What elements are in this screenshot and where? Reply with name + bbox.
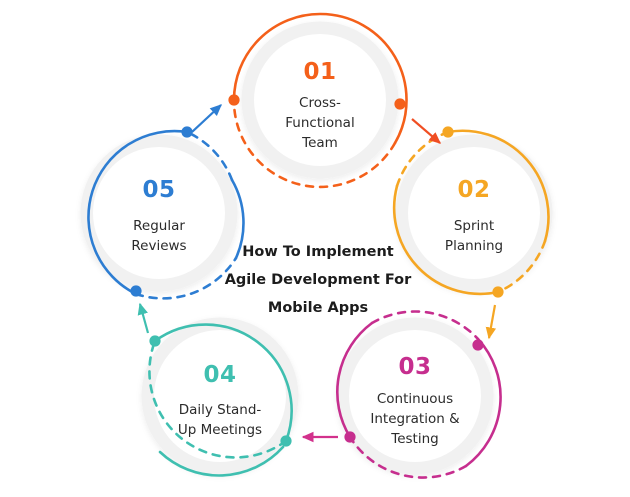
step-label-03-line-3: Testing: [390, 431, 438, 447]
node-dot-03-bottom-left: [344, 431, 355, 442]
arrow-02-to-03: [489, 305, 495, 338]
center-title-line-2: Agile Development For: [225, 272, 412, 288]
node-dot-05-top: [181, 126, 192, 137]
step-circle-04[interactable]: 04 Daily Stand- Up Meetings: [148, 324, 292, 475]
step-label-04-line-1: Daily Stand-: [179, 402, 262, 418]
step-label-03-line-1: Continuous: [377, 391, 453, 407]
node-dot-04-bottom-right: [280, 435, 291, 446]
center-title-line-3: Mobile Apps: [268, 300, 368, 316]
step-label-05-line-1: Regular: [133, 218, 185, 234]
step-circle-03[interactable]: 03 Continuous Integration & Testing: [337, 311, 500, 477]
step-circle-05[interactable]: 05 Regular Reviews: [87, 126, 243, 298]
node-dot-04-top-left: [149, 335, 160, 346]
step-number-05: 05: [142, 177, 175, 203]
arrow-05-to-01: [192, 105, 221, 132]
step-number-03: 03: [398, 354, 431, 380]
step-number-01: 01: [303, 59, 336, 85]
step-circle-01[interactable]: 01 Cross- Functional Team: [228, 14, 406, 187]
step-number-02: 02: [457, 177, 490, 203]
arrow-01-to-02: [412, 119, 440, 143]
process-cycle-diagram: 01 Cross- Functional Team 02 Sprint Plan…: [0, 0, 630, 497]
step-circle-02[interactable]: 02 Sprint Planning: [394, 126, 548, 297]
ring-inner-fill-02: [408, 147, 540, 279]
step-label-01-line-2: Functional: [285, 115, 354, 131]
step-label-05-line-2: Reviews: [131, 238, 186, 254]
arrow-04-to-05: [140, 304, 148, 333]
step-number-04: 04: [203, 362, 236, 388]
center-title: How To Implement Agile Development For M…: [225, 244, 412, 316]
node-dot-02-bottom: [492, 286, 503, 297]
node-dot-01-right: [394, 98, 405, 109]
step-label-04-line-2: Up Meetings: [178, 422, 262, 438]
step-label-02-line-1: Sprint: [454, 218, 494, 234]
node-dot-02-top: [442, 126, 453, 137]
node-dot-03-top-right: [472, 339, 483, 350]
step-label-01-line-3: Team: [301, 135, 338, 151]
node-dot-01-left: [228, 94, 239, 105]
node-dot-05-bottom: [130, 285, 141, 296]
center-title-line-1: How To Implement: [242, 244, 393, 260]
step-label-01-line-1: Cross-: [299, 95, 341, 111]
step-label-03-line-2: Integration &: [370, 411, 460, 427]
agile-process-infographic: 01 Cross- Functional Team 02 Sprint Plan…: [0, 0, 630, 497]
ring-inner-fill-05: [93, 147, 225, 279]
step-label-02-line-2: Planning: [445, 238, 503, 254]
